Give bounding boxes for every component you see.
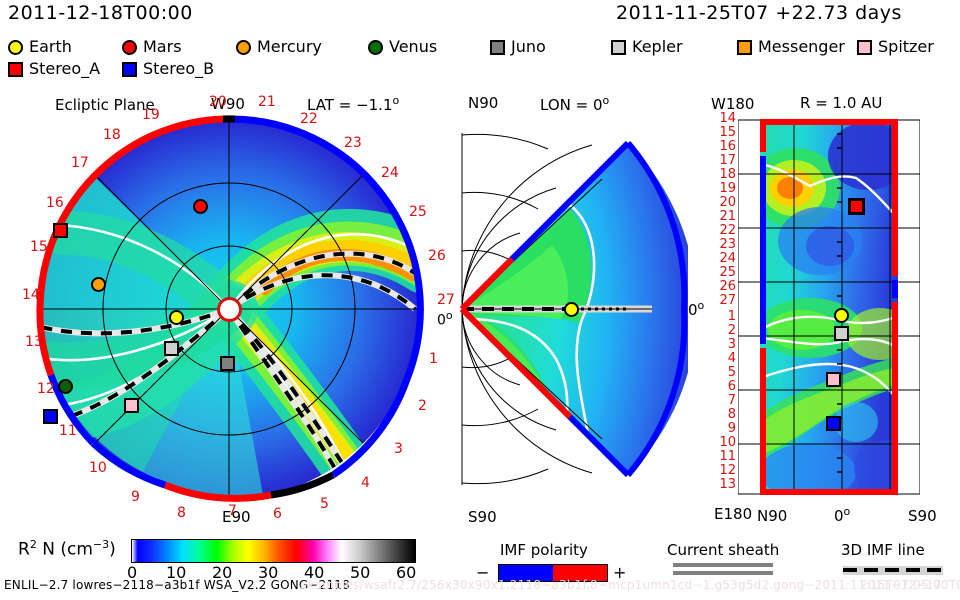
one-au-axis-n90: N90 [757,507,787,525]
one-au-bottom-label: E180 [714,505,752,523]
one-au-axis-center: 0o [834,505,850,525]
messenger-marker-icon [737,40,752,55]
ecliptic-body-earth[interactable] [169,310,184,325]
one-au-row-27: 27 [710,294,736,307]
legend-label: Spitzer [878,39,934,55]
venus-marker-icon [368,40,383,55]
ecliptic-tick-9: 9 [131,490,140,504]
one-au-svg [738,116,920,498]
ecliptic-tick-6: 6 [273,507,282,521]
ecliptic-tick-19: 19 [142,108,160,122]
imf-3d-dash [927,568,941,572]
imf-3d-dash [885,568,899,572]
model-run-footer: ENLIL−2.7 lowres−2118−a3b1f WSA_V2.2 GON… [4,578,350,592]
ecliptic-tick-1: 1 [429,352,438,366]
meridional-top-label: N90 [468,94,498,112]
ecliptic-body-mars[interactable] [193,199,208,214]
one-au-row-18: 18 [710,168,736,181]
one-au-row-1: 1 [710,310,736,323]
legend-label: Stereo_B [143,61,214,77]
meridional-right-zero-label: 0o [688,299,704,319]
legend-item-messenger: Messenger [737,39,853,55]
one-au-row-11: 11 [710,450,736,463]
ecliptic-tick-25: 25 [409,205,427,219]
imf-3d-dash [906,568,920,572]
ecliptic-tick-20: 20 [209,95,227,109]
mercury-marker-icon [236,40,251,55]
ecliptic-ref-zero: 0o [437,309,453,328]
spitzer-marker-icon [857,40,872,55]
one-au-row-9: 9 [710,422,736,435]
colorbar-label: R2 N (cm−3) [18,538,116,560]
one-au-row-17: 17 [710,154,736,167]
one-au-row-13: 13 [710,478,736,491]
legend-row-spacecraft: Stereo_A Stereo_B [8,58,952,80]
ecliptic-tick-23: 23 [344,136,362,150]
ecliptic-body-mercury[interactable] [91,277,106,292]
current-sheath-swatch [673,563,773,577]
meridional-plane-plot[interactable] [452,113,688,505]
ecliptic-tick-18: 18 [103,128,121,142]
ecliptic-tick-14: 14 [22,288,40,302]
meridional-body-earth[interactable] [564,302,579,317]
ecliptic-tick-15: 15 [30,240,48,254]
legend-item-venus: Venus [368,39,486,55]
ecliptic-tick-5: 5 [320,497,329,511]
one-au-row-16: 16 [710,140,736,153]
one-au-row-3: 3 [710,338,736,351]
one-au-row-23: 23 [710,238,736,251]
legend-item-stereo-a: Stereo_A [8,61,118,77]
one-au-row-14: 14 [710,112,736,125]
meridional-lon-label: LON = 0o [540,94,609,114]
stereo-b-marker-icon [122,62,137,77]
legend-row-planets: Earth Mars Mercury Venus Juno Kepler Mes… [8,36,952,58]
ecliptic-body-venus[interactable] [58,379,73,394]
ecliptic-tick-2: 2 [418,399,427,413]
imf-3d-line-swatch [843,566,943,575]
legend-item-stereo-b: Stereo_B [122,61,214,77]
legend-item-mercury: Mercury [236,39,364,55]
one-au-body-earth[interactable] [834,308,849,323]
legend-label: Stereo_A [29,61,100,77]
imf-3d-dash [864,568,878,572]
one-au-body-stereo-a[interactable] [848,198,865,215]
imf-3d-legend-title: 3D IMF line [841,541,925,559]
current-sheath-legend-title: Current sheath [667,541,779,559]
ecliptic-panel-title: Ecliptic Plane [55,96,155,114]
legend-item-mars: Mars [122,39,232,55]
lon-value: LON = 0 [540,96,603,114]
imf-polarity-legend-title: IMF polarity [500,541,588,559]
ecliptic-body-kepler[interactable] [164,341,179,356]
lat-degree-symbol: o [393,94,400,107]
lat-value: LAT = −1.1 [307,96,393,114]
run-start-datetime: 2011-11-25T07 +22.73 days [616,2,902,24]
ecliptic-tick-4: 4 [361,476,370,490]
one-au-body-spitzer[interactable] [826,372,841,387]
imf-3d-dash [843,568,857,572]
one-au-panel-title: R = 1.0 AU [800,94,882,112]
one-au-row-12: 12 [710,464,736,477]
one-au-row-5: 5 [710,366,736,379]
one-au-row-2: 2 [710,324,736,337]
one-au-row-4: 4 [710,352,736,365]
ecliptic-body-juno[interactable] [220,356,235,371]
ecliptic-tick-24: 24 [381,166,399,180]
ecliptic-tick-7: 7 [228,504,237,518]
legend-label: Mars [143,39,182,55]
legend-label: Venus [389,39,437,55]
ecliptic-tick-17: 17 [71,156,89,170]
one-au-row-8: 8 [710,408,736,421]
one-au-row-21: 21 [710,210,736,223]
ecliptic-tick-16: 16 [46,196,64,210]
ecliptic-body-stereo-b[interactable] [43,409,58,424]
ecliptic-body-stereo-a[interactable] [53,223,68,238]
legend-item-earth: Earth [8,39,118,55]
legend-label: Kepler [632,39,683,55]
ecliptic-tick-13: 13 [25,335,43,349]
legend-label: Messenger [758,39,845,55]
ecliptic-tick-3: 3 [394,442,403,456]
meridional-bottom-label: S90 [468,508,497,526]
one-au-row-26: 26 [710,280,736,293]
legend-label: Earth [29,39,72,55]
sun-marker [220,300,239,319]
earth-marker-icon [8,40,23,55]
one-au-row-24: 24 [710,252,736,265]
run-date-watermark: 2011−12−17 [860,578,941,592]
one-au-row-25: 25 [710,266,736,279]
current-sheath-line-bottom [673,571,773,575]
body-legend: Earth Mars Mercury Venus Juno Kepler Mes… [8,36,952,80]
one-au-row-10: 10 [710,436,736,449]
legend-item-spitzer: Spitzer [857,39,934,55]
density-colorbar[interactable] [131,539,416,563]
legend-item-juno: Juno [490,39,607,55]
ecliptic-tick-22: 22 [300,112,318,126]
one-au-row-20: 20 [710,196,736,209]
one-au-row-7: 7 [710,394,736,407]
mars-marker-icon [122,40,137,55]
one-au-row-22: 22 [710,224,736,237]
ecliptic-tick-11: 11 [59,424,77,438]
ecliptic-lat-label: LAT = −1.1o [307,94,399,114]
ecliptic-tick-12: 12 [37,382,55,396]
forecast-datetime: 2011-12-18T00:00 [8,2,193,24]
ecliptic-tick-21: 21 [258,95,276,109]
kepler-marker-icon [611,40,626,55]
ecliptic-tick-8: 8 [177,506,186,520]
one-au-plot[interactable] [738,116,920,498]
one-au-body-stereo-b[interactable] [826,416,841,431]
one-au-body-kepler[interactable] [834,326,849,341]
ecliptic-plane-plot[interactable] [33,113,425,505]
one-au-row-15: 15 [710,126,736,139]
ecliptic-tick-26: 26 [428,249,446,263]
one-au-axis-s90: S90 [908,507,937,525]
ecliptic-body-spitzer[interactable] [124,398,139,413]
stereo-a-marker-icon [8,62,23,77]
one-au-row-6: 6 [710,380,736,393]
legend-item-kepler: Kepler [611,39,733,55]
legend-label: Mercury [257,39,322,55]
legend-label: Juno [511,39,546,55]
one-au-row-19: 19 [710,182,736,195]
lon-degree-symbol: o [603,94,610,107]
juno-marker-icon [490,40,505,55]
ecliptic-tick-10: 10 [89,461,107,475]
